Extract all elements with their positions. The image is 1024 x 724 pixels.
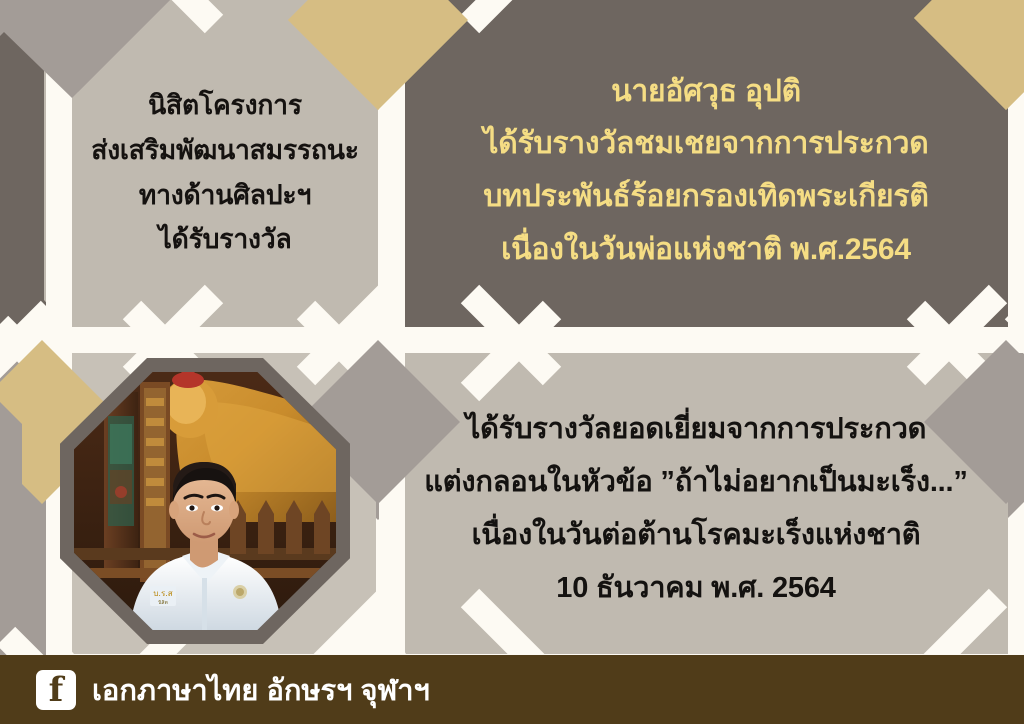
facebook-icon[interactable]: f bbox=[36, 670, 76, 710]
poster-canvas: นิสิตโครงการ ส่งเสริมพัฒนาสมรรถนะ ทางด้า… bbox=[0, 0, 1024, 724]
award-top-line-3: บทประพันธ์ร้อยกรองเทิดพระเกียรติ bbox=[483, 176, 928, 219]
svg-text:นิสิต: นิสิต bbox=[158, 599, 168, 606]
project-title-panel: นิสิตโครงการ ส่งเสริมพัฒนาสมรรถนะ ทางด้า… bbox=[72, 18, 378, 328]
award-top-line-2: ได้รับรางวัลชมเชยจากการประกวด bbox=[483, 123, 928, 166]
portrait-clip: บ.ร.ส นิสิต bbox=[74, 372, 336, 630]
award-bottom-date: 10 ธันวาคม พ.ศ. 2564 bbox=[556, 568, 835, 609]
facebook-f-glyph: f bbox=[36, 673, 76, 707]
awardee-name: นายอัศวุธ อุปติ bbox=[611, 71, 801, 114]
project-title-line-3: ทางด้านศิลปะฯ bbox=[139, 177, 311, 215]
project-title-line-1: นิสิตโครงการ bbox=[148, 87, 302, 125]
footer-bar: f เอกภาษาไทย อักษรฯ จุฬาฯ bbox=[0, 655, 1024, 724]
project-title-line-4: ได้รับรางวัล bbox=[159, 221, 292, 259]
svg-text:บ.ร.ส: บ.ร.ส bbox=[153, 589, 172, 598]
award-bottom-line-3: เนื่องในวันต่อต้านโรคมะเร็งแห่งชาติ bbox=[472, 515, 921, 556]
portrait-photo: บ.ร.ส นิสิต bbox=[74, 372, 336, 630]
award-bottom-line-2: แต่งกลอนในหัวข้อ ”ถ้าไม่อยากเป็นมะเร็ง..… bbox=[424, 462, 967, 503]
award-bottom-line-1: ได้รับรางวัลยอดเยี่ยมจากการประกวด bbox=[466, 409, 927, 450]
facebook-page-name[interactable]: เอกภาษาไทย อักษรฯ จุฬาฯ bbox=[92, 667, 430, 713]
award-panel-bottom: ได้รับรางวัลยอดเยี่ยมจากการประกวด แต่งกล… bbox=[384, 366, 1008, 652]
award-top-line-4: เนื่องในวันพ่อแห่งชาติ พ.ศ.2564 bbox=[501, 229, 911, 272]
award-panel-top: นายอัศวุธ อุปติ ได้รับรางวัลชมเชยจากการป… bbox=[404, 16, 1008, 326]
project-title-line-2: ส่งเสริมพัฒนาสมรรถนะ bbox=[91, 132, 359, 170]
